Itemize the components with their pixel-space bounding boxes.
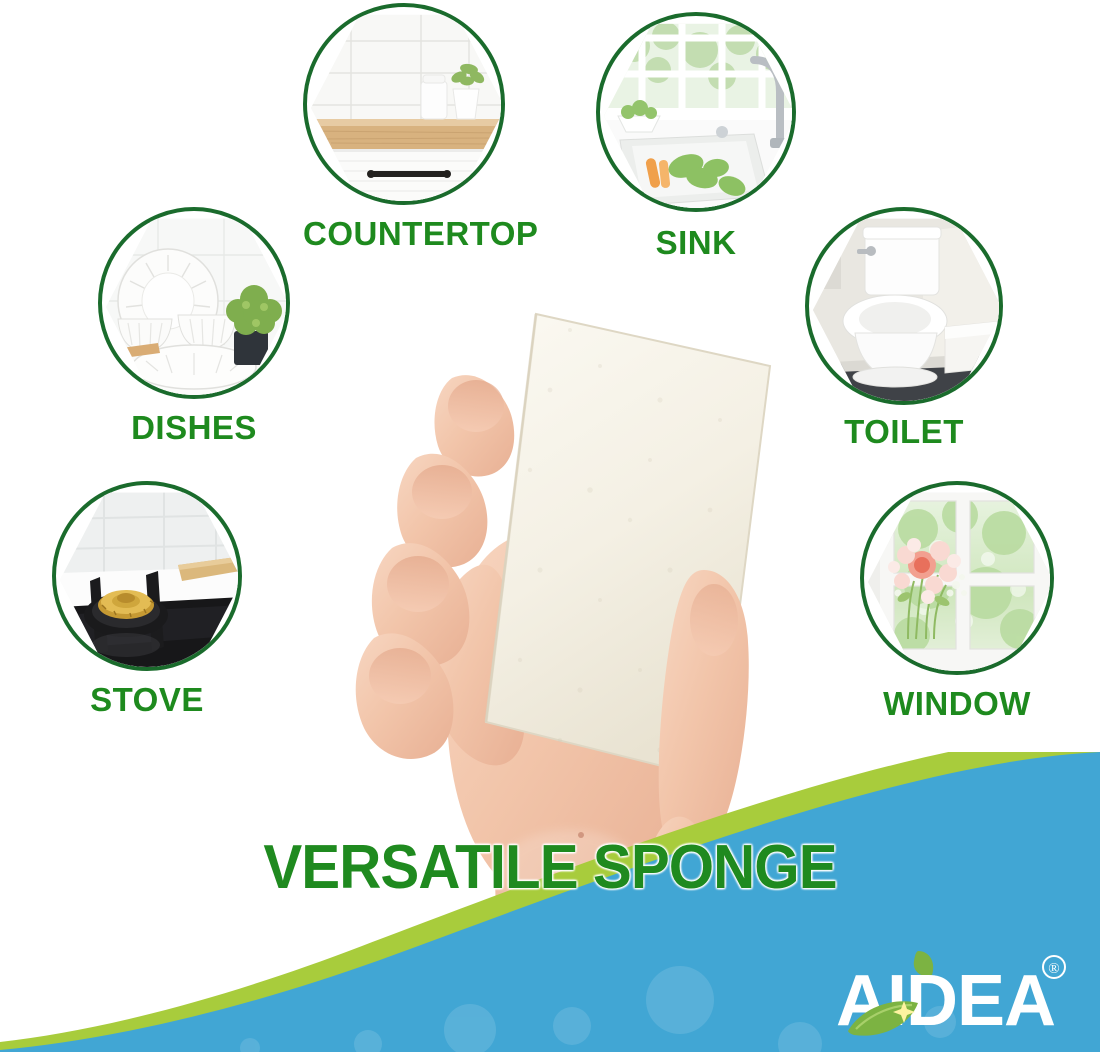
dishes-icon bbox=[106, 215, 290, 399]
stove-icon bbox=[60, 489, 242, 671]
svg-text:®: ® bbox=[1048, 961, 1059, 977]
page-title: VERSATILE SPONGE bbox=[33, 832, 1067, 903]
badge-ring bbox=[52, 481, 242, 671]
use-case-stove[interactable]: STOVE bbox=[52, 481, 242, 736]
use-case-label: DISHES bbox=[98, 409, 290, 447]
badge-ring bbox=[303, 3, 505, 205]
use-case-dishes[interactable]: DISHES bbox=[98, 207, 290, 462]
brand-logo-aidea: AIDEA ® bbox=[832, 949, 1082, 1044]
badge-ring bbox=[860, 481, 1054, 675]
badge-ring bbox=[596, 12, 796, 212]
sink-icon bbox=[604, 20, 796, 212]
use-case-countertop[interactable]: COUNTERTOP bbox=[303, 3, 505, 268]
use-case-label: WINDOW bbox=[860, 685, 1054, 723]
badge-ring bbox=[805, 207, 1003, 405]
use-case-label: COUNTERTOP bbox=[303, 215, 505, 253]
use-case-sink[interactable]: SINK bbox=[596, 12, 796, 277]
use-case-label: TOILET bbox=[805, 413, 1003, 451]
use-case-label: STOVE bbox=[52, 681, 242, 719]
badge-ring bbox=[98, 207, 290, 399]
use-case-toilet[interactable]: TOILET bbox=[805, 207, 1003, 462]
use-case-window[interactable]: WINDOW bbox=[860, 481, 1054, 736]
product-infographic: COUNTERTOP bbox=[0, 0, 1100, 1052]
toilet-icon bbox=[813, 215, 1003, 405]
use-case-label: SINK bbox=[596, 224, 796, 262]
countertop-icon bbox=[311, 11, 505, 205]
window-icon bbox=[868, 489, 1054, 675]
